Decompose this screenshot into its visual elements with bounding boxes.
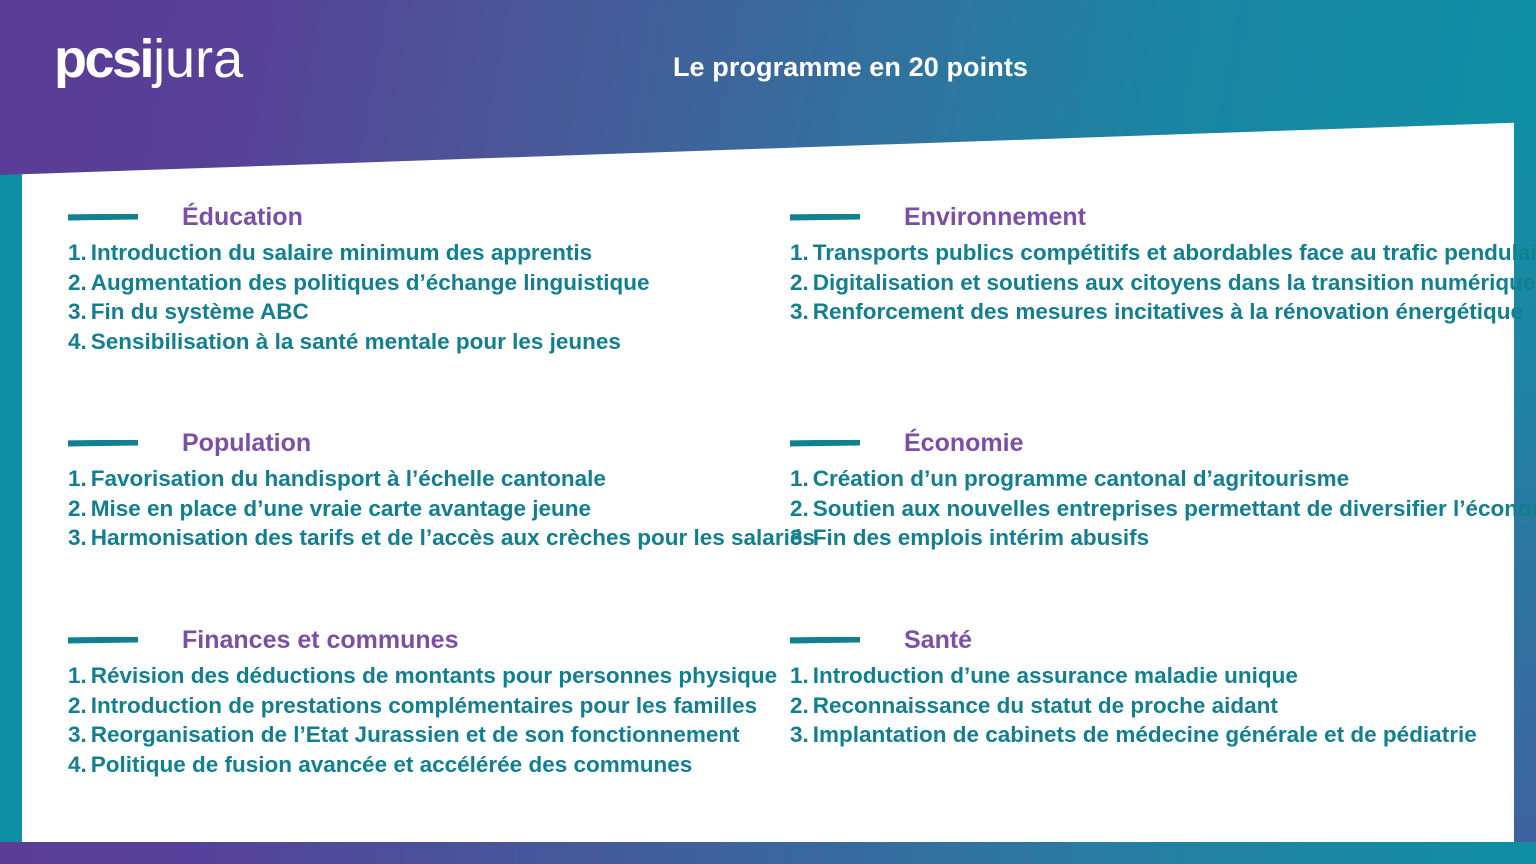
list-item: 2.Introduction de prestations complément… <box>68 691 790 721</box>
list-item: 1.Transports publics compétitifs et abor… <box>790 238 1504 268</box>
list-item: 1.Révision des déductions de montants po… <box>68 661 790 691</box>
list-item: 1.Introduction d’une assurance maladie u… <box>790 661 1504 691</box>
item-text: Révision des déductions de montants pour… <box>91 663 777 688</box>
section-list: 1.Introduction d’une assurance maladie u… <box>790 661 1504 750</box>
item-number: 4. <box>68 329 87 354</box>
section-education: Éducation 1.Introduction du salaire mini… <box>68 200 790 405</box>
list-item: 2.Reconnaissance du statut de proche aid… <box>790 691 1504 721</box>
item-number: 3. <box>790 299 809 324</box>
section-economie: Économie 1.Création d’un programme canto… <box>790 426 1504 602</box>
list-item: 2.Digitalisation et soutiens aux citoyen… <box>790 268 1504 298</box>
section-title: Éducation <box>182 203 303 232</box>
item-number: 2. <box>790 496 809 521</box>
dash-rule-icon <box>68 214 138 221</box>
item-number: 1. <box>790 240 809 265</box>
dash-rule-icon <box>790 214 860 221</box>
list-item: 2.Mise en place d’une vraie carte avanta… <box>68 494 790 524</box>
item-text: Mise en place d’une vraie carte avantage… <box>91 496 591 521</box>
section-title: Finances et communes <box>182 626 458 655</box>
list-item: 3.Harmonisation des tarifs et de l’accès… <box>68 523 790 553</box>
item-number: 3. <box>790 722 809 747</box>
item-number: 3. <box>68 525 87 550</box>
section-heading: Éducation <box>68 200 790 234</box>
section-sante: Santé 1.Introduction d’une assurance mal… <box>790 623 1504 799</box>
item-text: Transports publics compétitifs et aborda… <box>813 240 1536 265</box>
item-text: Digitalisation et soutiens aux citoyens … <box>813 270 1536 295</box>
item-number: 2. <box>790 270 809 295</box>
item-number: 2. <box>68 693 87 718</box>
item-number: 2. <box>68 496 87 521</box>
item-number: 2. <box>790 693 809 718</box>
item-number: 3. <box>790 525 809 550</box>
list-item: 3.Renforcement des mesures incitatives à… <box>790 297 1504 327</box>
item-text: Politique de fusion avancée et accélérée… <box>91 752 693 777</box>
item-number: 3. <box>68 722 87 747</box>
item-number: 1. <box>68 663 87 688</box>
item-text: Renforcement des mesures incitatives à l… <box>813 299 1523 324</box>
item-text: Reconnaissance du statut de proche aidan… <box>813 693 1278 718</box>
section-heading: Économie <box>790 426 1504 460</box>
item-text: Reorganisation de l’Etat Jurassien et de… <box>91 722 740 747</box>
section-list: 1.Introduction du salaire minimum des ap… <box>68 238 790 356</box>
list-item: 4.Sensibilisation à la santé mentale pou… <box>68 327 790 357</box>
item-text: Sensibilisation à la santé mentale pour … <box>91 329 621 354</box>
list-item: 2.Soutien aux nouvelles entreprises perm… <box>790 494 1504 524</box>
section-heading: Environnement <box>790 200 1504 234</box>
section-heading: Santé <box>790 623 1504 657</box>
item-text: Implantation de cabinets de médecine gén… <box>813 722 1477 747</box>
item-number: 1. <box>68 466 87 491</box>
list-item: 3.Reorganisation de l’Etat Jurassien et … <box>68 720 790 750</box>
item-number: 3. <box>68 299 87 324</box>
item-text: Introduction de prestations complémentai… <box>91 693 757 718</box>
section-list: 1.Création d’un programme cantonal d’agr… <box>790 464 1504 553</box>
item-text: Fin des emplois intérim abusifs <box>813 525 1149 550</box>
dash-rule-icon <box>790 637 860 644</box>
dash-rule-icon <box>68 637 138 644</box>
section-title: Économie <box>904 429 1023 458</box>
dash-rule-icon <box>790 440 860 447</box>
item-text: Soutien aux nouvelles entreprises permet… <box>813 496 1536 521</box>
list-item: 3.Fin des emplois intérim abusifs <box>790 523 1504 553</box>
page-title: Le programme en 20 points <box>0 52 1536 83</box>
section-environnement: Environnement 1.Transports publics compé… <box>790 200 1504 405</box>
section-list: 1.Favorisation du handisport à l’échelle… <box>68 464 790 553</box>
list-item: 3.Implantation de cabinets de médecine g… <box>790 720 1504 750</box>
sections-grid: Éducation 1.Introduction du salaire mini… <box>0 200 1536 820</box>
item-number: 1. <box>790 663 809 688</box>
list-item: 4.Politique de fusion avancée et accélér… <box>68 750 790 780</box>
list-item: 1.Favorisation du handisport à l’échelle… <box>68 464 790 494</box>
section-finances-et-communes: Finances et communes 1.Révision des dédu… <box>68 623 790 799</box>
item-number: 1. <box>68 240 87 265</box>
item-number: 4. <box>68 752 87 777</box>
dash-rule-icon <box>68 440 138 447</box>
list-item: 3.Fin du système ABC <box>68 297 790 327</box>
slide-root: pcsijura Le programme en 20 points Éduca… <box>0 0 1536 864</box>
item-number: 1. <box>790 466 809 491</box>
section-title: Santé <box>904 626 972 655</box>
list-item: 1.Introduction du salaire minimum des ap… <box>68 238 790 268</box>
item-text: Introduction d’une assurance maladie uni… <box>813 663 1298 688</box>
item-text: Augmentation des politiques d’échange li… <box>91 270 650 295</box>
section-heading: Population <box>68 426 790 460</box>
item-text: Introduction du salaire minimum des appr… <box>91 240 592 265</box>
section-population: Population 1.Favorisation du handisport … <box>68 426 790 602</box>
item-number: 2. <box>68 270 87 295</box>
item-text: Favorisation du handisport à l’échelle c… <box>91 466 606 491</box>
list-item: 2.Augmentation des politiques d’échange … <box>68 268 790 298</box>
section-list: 1.Transports publics compétitifs et abor… <box>790 238 1504 327</box>
section-title: Environnement <box>904 203 1086 232</box>
list-item: 1.Création d’un programme cantonal d’agr… <box>790 464 1504 494</box>
footer-banner <box>0 842 1536 864</box>
item-text: Création d’un programme cantonal d’agrit… <box>813 466 1349 491</box>
item-text: Fin du système ABC <box>91 299 309 324</box>
section-list: 1.Révision des déductions de montants po… <box>68 661 790 779</box>
section-heading: Finances et communes <box>68 623 790 657</box>
section-title: Population <box>182 429 311 458</box>
item-text: Harmonisation des tarifs et de l’accès a… <box>91 525 815 550</box>
